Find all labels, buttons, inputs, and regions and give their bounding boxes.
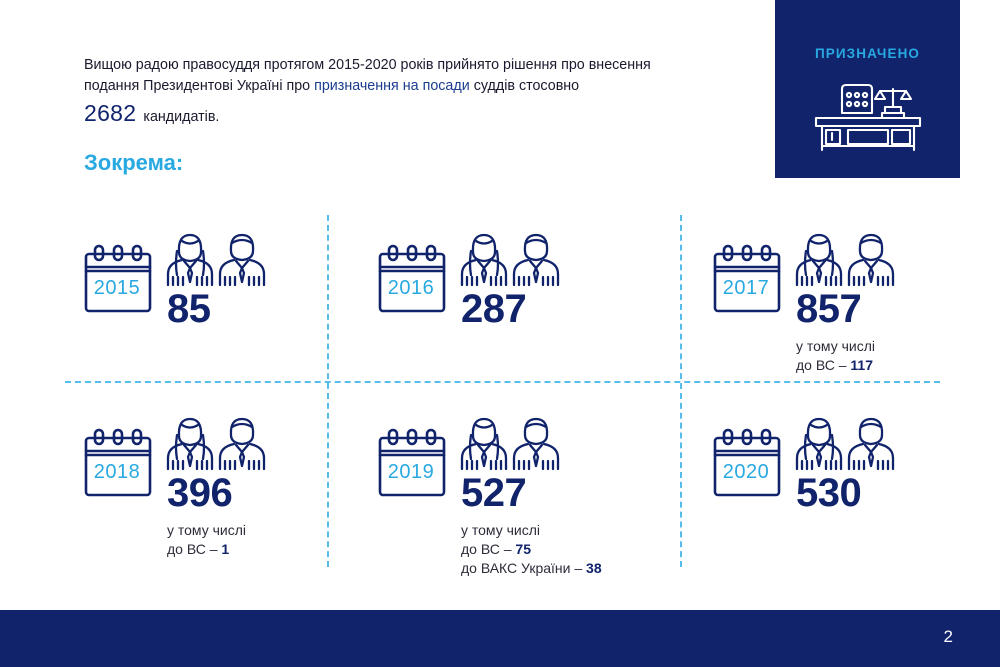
slide-root: ПРИЗНАЧЕНО xyxy=(0,0,1000,667)
intro-line-3: 2682 кандидатів. xyxy=(84,103,744,128)
year-label: 2019 xyxy=(375,461,447,484)
two-judges-icon xyxy=(794,231,898,287)
year-label: 2017 xyxy=(710,277,782,300)
footer-bar: 2 xyxy=(0,610,1000,667)
year-label: 2018 xyxy=(81,461,153,484)
judge-bench-scales-icon xyxy=(808,73,928,158)
calendar-icon: 2017 xyxy=(710,231,786,320)
appointment-count: 527 xyxy=(461,473,602,513)
grid-divider-horizontal xyxy=(65,381,940,383)
note-intro: у тому числі xyxy=(461,521,602,540)
appointed-badge: ПРИЗНАЧЕНО xyxy=(775,0,960,178)
page-number: 2 xyxy=(944,627,953,647)
year-stats-grid: 2015 xyxy=(65,215,940,567)
year-cell-2018: 2018 xyxy=(81,415,341,559)
note-line-2-label: до ВАКС України – xyxy=(461,560,586,576)
year-cell-2019: 2019 xyxy=(375,415,635,578)
appointment-note: у тому числі до ВС – 75 до ВАКС України … xyxy=(461,521,602,578)
note-line-1: до ВС – 117 xyxy=(796,356,898,375)
appointment-count: 85 xyxy=(167,289,269,329)
intro-paragraph: Вищою радою правосуддя протягом 2015-202… xyxy=(84,55,744,128)
calendar-icon: 2018 xyxy=(81,415,157,504)
two-judges-icon xyxy=(165,415,269,471)
note-line-1-label: до ВС – xyxy=(461,541,515,557)
appointment-count: 530 xyxy=(796,473,898,513)
two-judges-icon xyxy=(459,415,602,471)
note-line-1: до ВС – 75 xyxy=(461,540,602,559)
year-label: 2016 xyxy=(375,277,447,300)
two-judges-icon xyxy=(794,415,898,471)
year-cell-2020: 2020 xyxy=(710,415,970,513)
appointment-count: 287 xyxy=(461,289,563,329)
badge-label: ПРИЗНАЧЕНО xyxy=(815,46,920,61)
note-line-1-value: 75 xyxy=(515,541,531,557)
note-line-1-value: 1 xyxy=(221,541,229,557)
two-judges-icon xyxy=(165,231,269,287)
year-cell-2016: 2016 xyxy=(375,231,635,329)
calendar-icon: 2015 xyxy=(81,231,157,320)
total-candidates-label: кандидатів. xyxy=(143,107,219,128)
note-line-2: до ВАКС України – 38 xyxy=(461,559,602,578)
intro-line-2-suffix: суддів стосовно xyxy=(470,78,579,94)
intro-highlight: призначення на посади xyxy=(314,78,470,94)
appointment-count: 396 xyxy=(167,473,269,513)
note-line-1-label: до ВС – xyxy=(167,541,221,557)
grid-divider-vertical-2 xyxy=(680,215,682,567)
note-intro: у тому числі xyxy=(796,337,898,356)
note-line-1-value: 117 xyxy=(850,357,873,373)
calendar-icon: 2016 xyxy=(375,231,451,320)
note-line-1: до ВС – 1 xyxy=(167,540,269,559)
intro-line-2-prefix: подання Президентові Україні про xyxy=(84,78,314,94)
intro-line-1: Вищою радою правосуддя протягом 2015-202… xyxy=(84,55,744,76)
appointment-note: у тому числі до ВС – 117 xyxy=(796,337,898,375)
section-title: Зокрема: xyxy=(84,150,183,176)
appointment-count: 857 xyxy=(796,289,898,329)
note-line-1-label: до ВС – xyxy=(796,357,850,373)
year-label: 2020 xyxy=(710,461,782,484)
appointment-note: у тому числі до ВС – 1 xyxy=(167,521,269,559)
two-judges-icon xyxy=(459,231,563,287)
total-candidates-number: 2682 xyxy=(84,103,136,124)
year-label: 2015 xyxy=(81,277,153,300)
calendar-icon: 2019 xyxy=(375,415,451,504)
note-line-2-value: 38 xyxy=(586,560,602,576)
year-cell-2015: 2015 xyxy=(81,231,341,329)
intro-line-2: подання Президентові Україні про признач… xyxy=(84,76,744,97)
year-cell-2017: 2017 xyxy=(710,231,970,375)
calendar-icon: 2020 xyxy=(710,415,786,504)
note-intro: у тому числі xyxy=(167,521,269,540)
